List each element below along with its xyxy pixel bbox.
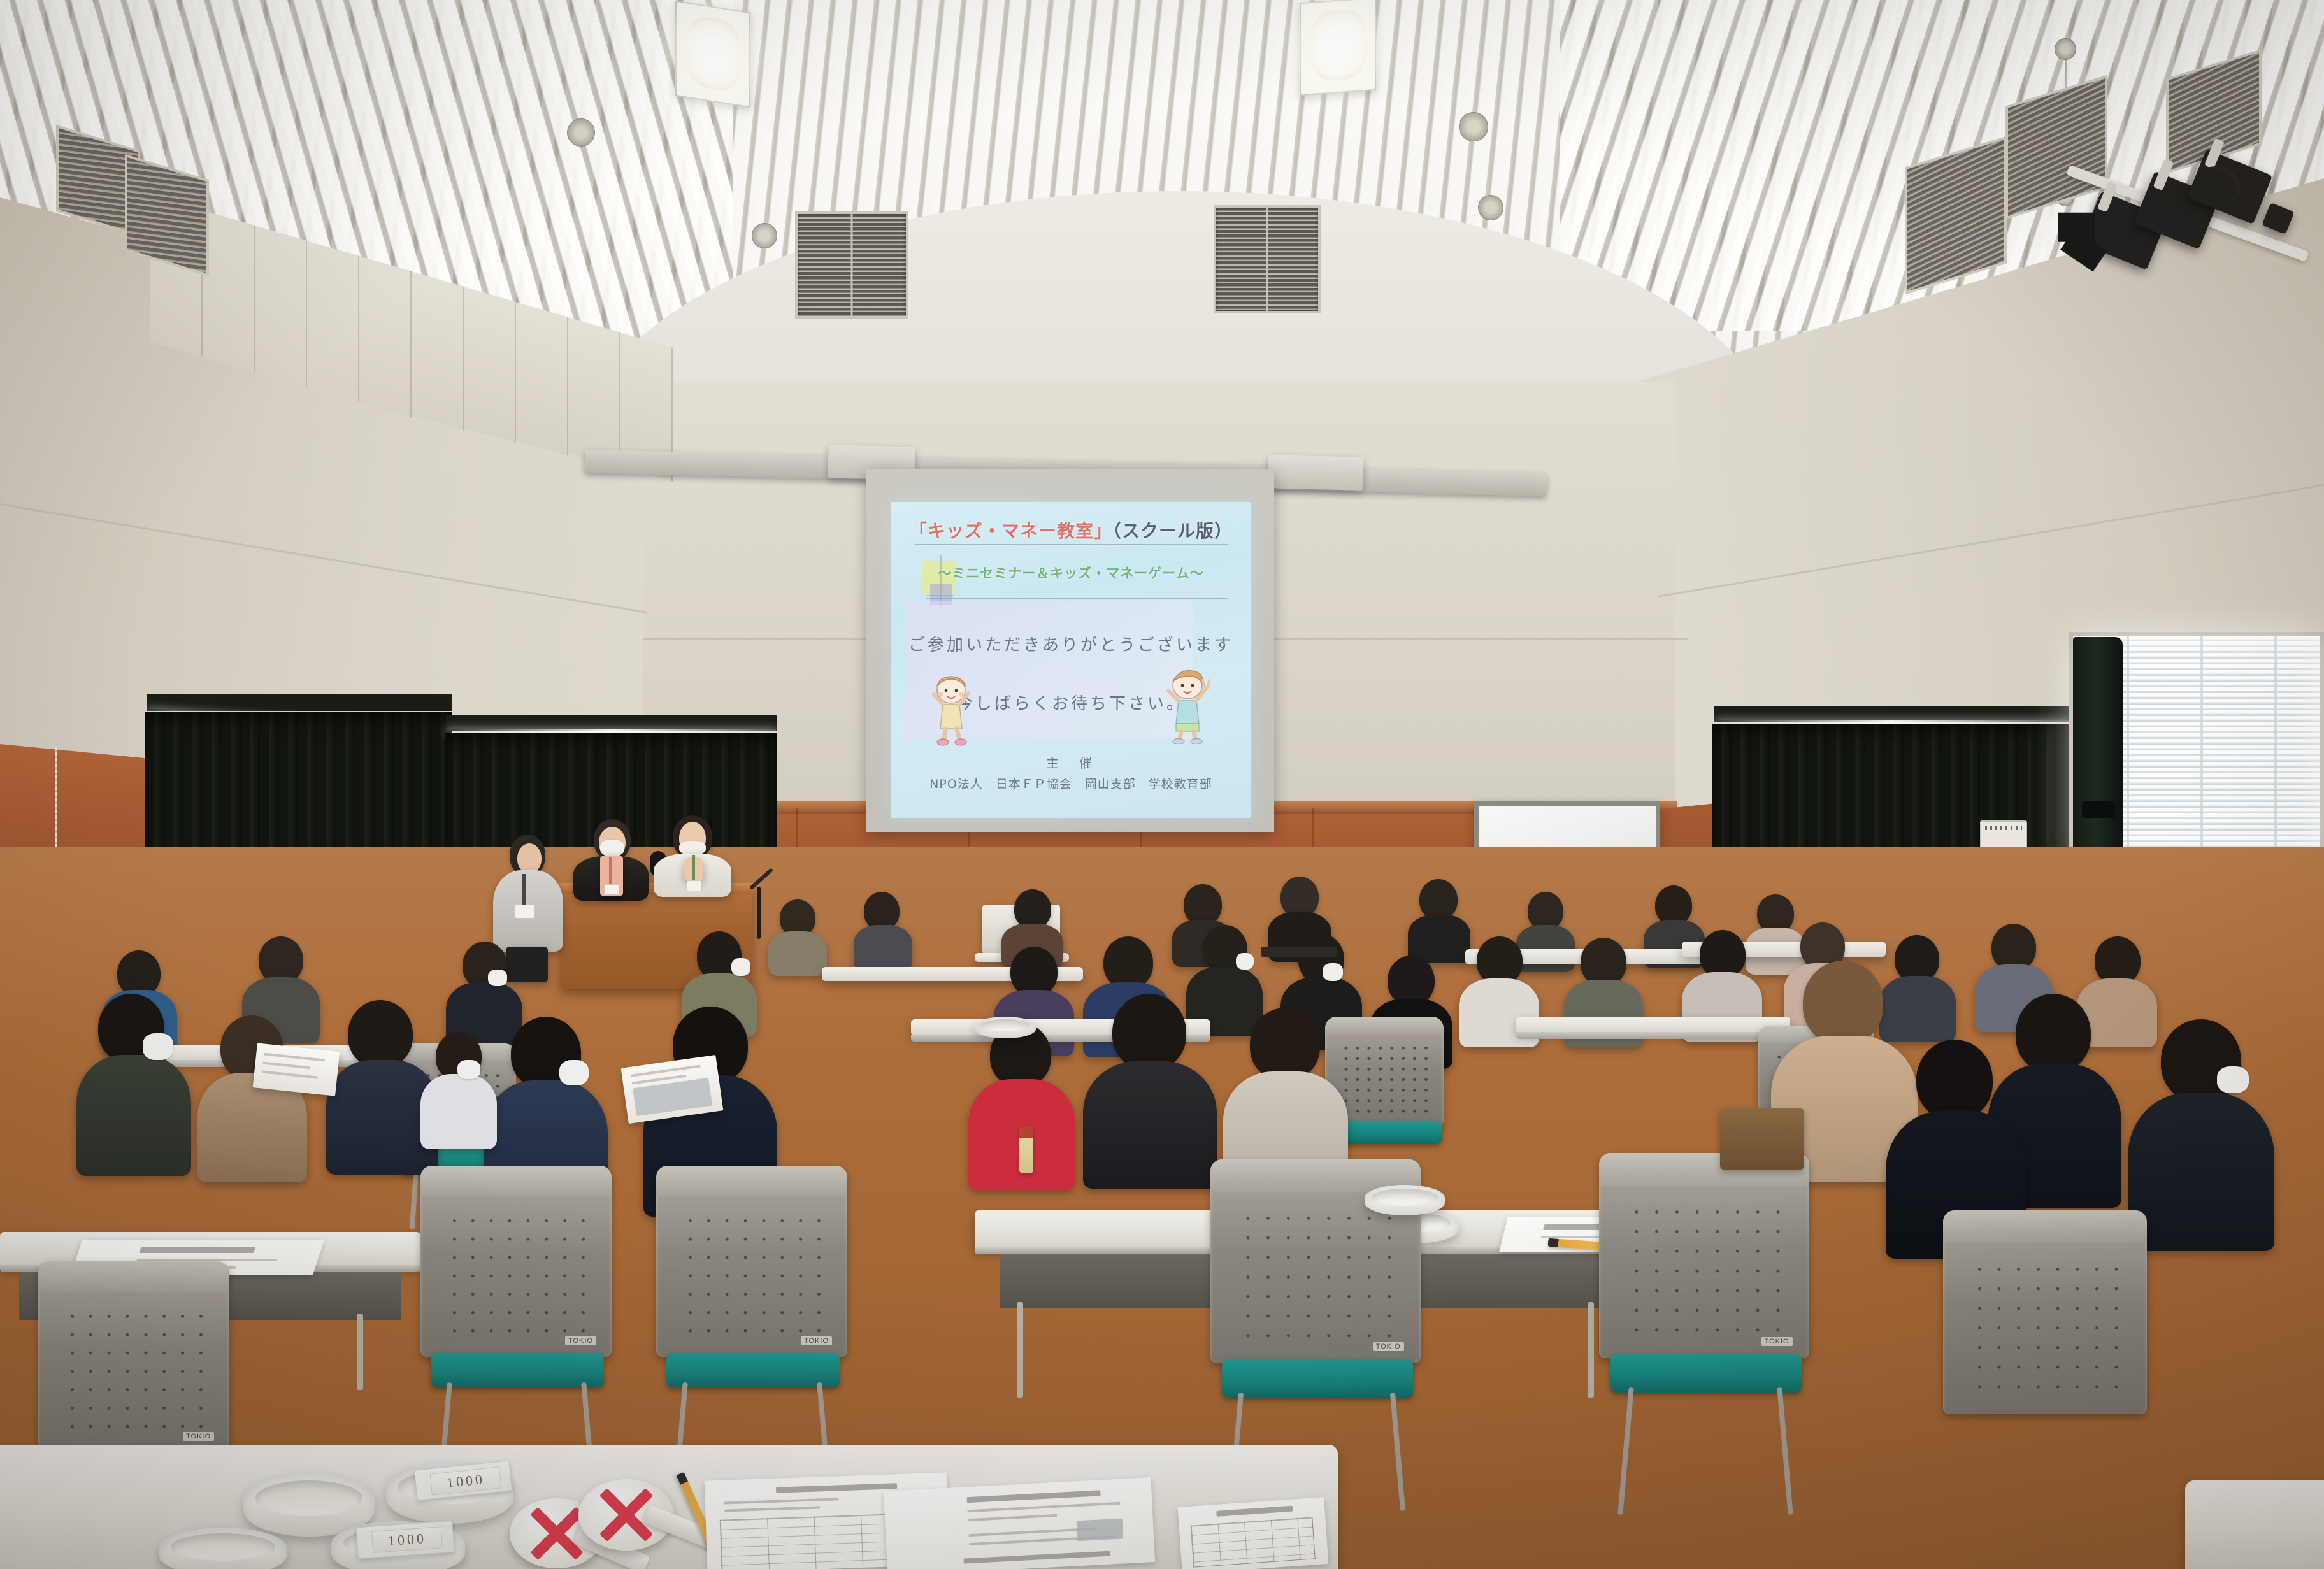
window-curtain-right[interactable] xyxy=(2073,637,2123,874)
audience-member-front-10 xyxy=(2128,1019,2274,1249)
ceiling-spot-far-right xyxy=(2055,38,2076,60)
vent-icon-back-left xyxy=(795,211,908,319)
presenter-center-lanyard xyxy=(609,857,612,887)
ceiling-spot-left-2 xyxy=(752,223,777,248)
kid-boy-clipart xyxy=(1158,669,1217,744)
head xyxy=(259,936,303,984)
head xyxy=(1991,924,2036,971)
wall-panel-3 xyxy=(255,226,307,387)
head xyxy=(1916,1040,1993,1120)
bowl-icon-midtable[interactable] xyxy=(1365,1185,1445,1215)
laptop-icon[interactable] xyxy=(1261,947,1337,957)
wall-panel-2 xyxy=(203,210,255,372)
chair-front-4-seat[interactable] xyxy=(666,1353,840,1387)
chair-mid-2-seat[interactable] xyxy=(1331,1121,1442,1144)
ws-title xyxy=(1216,1506,1293,1517)
body xyxy=(1083,1061,1217,1189)
booklet-line xyxy=(264,1053,325,1062)
mask xyxy=(731,958,750,976)
presentation-slide: 「キッズ・マネー教室」（スクール版） ～ミニセミナー＆キッズ・マネーゲーム～ ご… xyxy=(891,502,1251,818)
ceiling-light-left xyxy=(675,1,750,108)
presenter-center-badge xyxy=(604,884,619,895)
ws-line xyxy=(968,1502,1121,1513)
booklet-icon-2[interactable] xyxy=(253,1043,340,1096)
presenter-right-badge xyxy=(687,880,702,891)
chair-front-2-seat[interactable] xyxy=(1610,1354,1802,1393)
head xyxy=(1477,936,1523,985)
wall-panel-6 xyxy=(412,271,464,431)
handbag-icon[interactable] xyxy=(1720,1108,1804,1170)
wall-panel-5 xyxy=(359,256,412,418)
wall-panel-4 xyxy=(307,241,359,403)
chair-brand-label: TOKIO xyxy=(565,1336,596,1345)
chair-perforations xyxy=(1970,1259,2121,1390)
bowl-icon-midtable-2[interactable] xyxy=(975,1017,1036,1038)
head xyxy=(864,892,900,930)
head xyxy=(1010,947,1058,996)
body xyxy=(768,931,827,976)
chair-rim xyxy=(38,1261,229,1292)
chair-brand-label: TOKIO xyxy=(801,1336,832,1345)
blind-cord-3 xyxy=(2274,636,2277,870)
chair-front-5[interactable] xyxy=(1943,1210,2147,1414)
ws-line xyxy=(724,1506,820,1512)
wall-panel-7 xyxy=(464,287,516,443)
head xyxy=(1528,892,1563,930)
worksheet-grid xyxy=(1191,1517,1316,1567)
worksheet-icon-foreground-3[interactable] xyxy=(1178,1497,1329,1569)
seminar-hall-photo: 「キッズ・マネー教室」（スクール版） ～ミニセミナー＆キッズ・マネーゲーム～ ご… xyxy=(0,0,2324,1569)
curtain-tie-band[interactable] xyxy=(2082,801,2115,818)
head xyxy=(1184,884,1222,925)
chair-perforations xyxy=(63,1307,204,1429)
chair-front-6[interactable]: TOKIO xyxy=(38,1261,229,1452)
bowl-inner xyxy=(1372,1189,1437,1206)
audience-member-front-2 xyxy=(197,1015,307,1179)
presenter-left-lanyard xyxy=(522,874,526,906)
head xyxy=(1700,930,1746,978)
head xyxy=(1250,1008,1320,1080)
ws-line xyxy=(968,1514,1057,1521)
slide-subtitle-underline xyxy=(926,598,1228,599)
head xyxy=(1581,938,1626,986)
presenter-right xyxy=(651,815,733,897)
mask xyxy=(1236,953,1254,970)
ceiling-spot-right xyxy=(1478,195,1503,220)
plate-ticks-3 xyxy=(1985,826,2022,830)
worksheet-illustration xyxy=(1077,1519,1124,1542)
head xyxy=(1014,889,1051,929)
head xyxy=(1419,879,1458,920)
chair-rim xyxy=(420,1166,612,1196)
body xyxy=(854,925,912,971)
ws-title xyxy=(776,1483,897,1493)
presenter-left-badge xyxy=(515,905,535,919)
chair-front-3[interactable]: TOKIO xyxy=(420,1166,612,1357)
bowl-inner xyxy=(171,1533,275,1561)
chair-rim xyxy=(1943,1210,2147,1243)
ws-subtitle xyxy=(964,1551,1110,1564)
chair-front-4[interactable]: TOKIO xyxy=(656,1166,847,1357)
blind-cord-2 xyxy=(2200,636,2203,870)
booklet-illustration xyxy=(633,1078,712,1116)
head xyxy=(1103,936,1153,989)
kid-girl-clipart xyxy=(924,675,979,747)
mask xyxy=(488,970,507,986)
worksheet-icon-foreground-2[interactable] xyxy=(884,1477,1155,1569)
chair-brand-label: TOKIO xyxy=(1373,1342,1404,1351)
blind-cord-1 xyxy=(2127,636,2129,870)
chair-perforations xyxy=(1340,1043,1428,1113)
audience-member-front-child-1 xyxy=(420,1032,497,1147)
table-mid-right xyxy=(1516,1017,1790,1033)
audience-member-back-8 xyxy=(854,892,912,970)
wall-panel-9 xyxy=(568,317,620,469)
head xyxy=(1655,885,1692,925)
slide-deco-hline xyxy=(926,595,954,596)
chair-perforations xyxy=(445,1212,587,1334)
chair-brand-label: TOKIO xyxy=(1761,1337,1793,1346)
mask xyxy=(559,1060,589,1085)
table-foreground-right xyxy=(2185,1480,2324,1569)
booklet-line xyxy=(631,1064,700,1077)
body xyxy=(2128,1093,2274,1251)
chair-brand-label: TOKIO xyxy=(183,1432,214,1441)
chair-perforations xyxy=(1238,1208,1393,1339)
presenter-center xyxy=(573,819,649,898)
slide-title-close-bracket: 」 xyxy=(1094,520,1112,541)
audience-member-front-6 xyxy=(1083,994,1217,1185)
head xyxy=(348,1000,413,1068)
slide-body-line-1: ご参加いただきありがとうございます xyxy=(891,632,1251,656)
slide-subtitle: ～ミニセミナー＆キッズ・マネーゲーム～ xyxy=(891,563,1251,582)
ceiling-light-center xyxy=(1300,0,1376,96)
ws-line xyxy=(724,1498,839,1504)
chair-perforations xyxy=(681,1212,822,1334)
mask xyxy=(143,1033,173,1060)
table-front-center-leg-l xyxy=(1017,1302,1023,1398)
booklet-line xyxy=(262,1070,318,1078)
head xyxy=(1112,994,1186,1070)
drink-bottle-icon[interactable] xyxy=(1019,1126,1033,1173)
head xyxy=(1280,877,1319,917)
vent-icon-back-right xyxy=(1214,205,1321,313)
slide-title-open-bracket: 「 xyxy=(909,520,928,541)
ws-title xyxy=(966,1490,1100,1503)
head xyxy=(2095,936,2141,985)
mask xyxy=(457,1060,480,1079)
head xyxy=(1388,956,1435,1005)
booklet-line xyxy=(263,1061,310,1069)
audience-member-front-1 xyxy=(76,994,191,1172)
table-front-center-leg-r xyxy=(1588,1302,1594,1398)
slide-title: 「キッズ・マネー教室」（スクール版） xyxy=(891,517,1251,543)
body xyxy=(76,1055,191,1176)
bowl-inner xyxy=(980,1019,1031,1031)
mic-floor-stand xyxy=(757,887,761,939)
ceiling-spot-center xyxy=(1459,112,1488,141)
slide-title-underline xyxy=(915,544,1228,545)
audience-member-back-9 xyxy=(768,899,827,975)
body xyxy=(420,1074,497,1149)
ceiling-spot-left-1 xyxy=(567,118,595,147)
stage-valance-left xyxy=(147,694,452,711)
screen-case-right xyxy=(1267,455,1363,491)
wall-panel-8 xyxy=(516,302,568,456)
chair-perforations xyxy=(1626,1202,1782,1333)
slide-title-main: キッズ・マネー教室 xyxy=(928,520,1094,541)
chair-front-2[interactable]: TOKIO xyxy=(1599,1153,1809,1358)
presenter-right-mask xyxy=(679,841,706,855)
bowl-inner xyxy=(255,1480,363,1516)
head xyxy=(1803,961,1883,1045)
head xyxy=(2016,994,2091,1073)
chair-front-3-seat[interactable] xyxy=(431,1353,604,1387)
presenter-left-face xyxy=(517,843,542,873)
table-front-left-leg xyxy=(357,1314,363,1390)
slide-title-suffix: （スクール版） xyxy=(1112,520,1233,541)
ws-title xyxy=(139,1247,255,1253)
mask xyxy=(2217,1066,2249,1093)
slide-host-label: 主 催 xyxy=(891,753,1251,771)
bowl-icon-4[interactable] xyxy=(159,1528,287,1569)
presenter-right-lanyard xyxy=(692,855,695,883)
chair-rim xyxy=(656,1166,847,1196)
mask xyxy=(1323,963,1343,981)
presenter-center-mask xyxy=(600,840,624,856)
chair-front-1-seat[interactable] xyxy=(1222,1359,1413,1398)
table-mid-right-edge xyxy=(1516,1032,1790,1039)
slide-host-name: NPO法人 日本ＦＰ協会 岡山支部 学校教育部 xyxy=(891,775,1251,792)
